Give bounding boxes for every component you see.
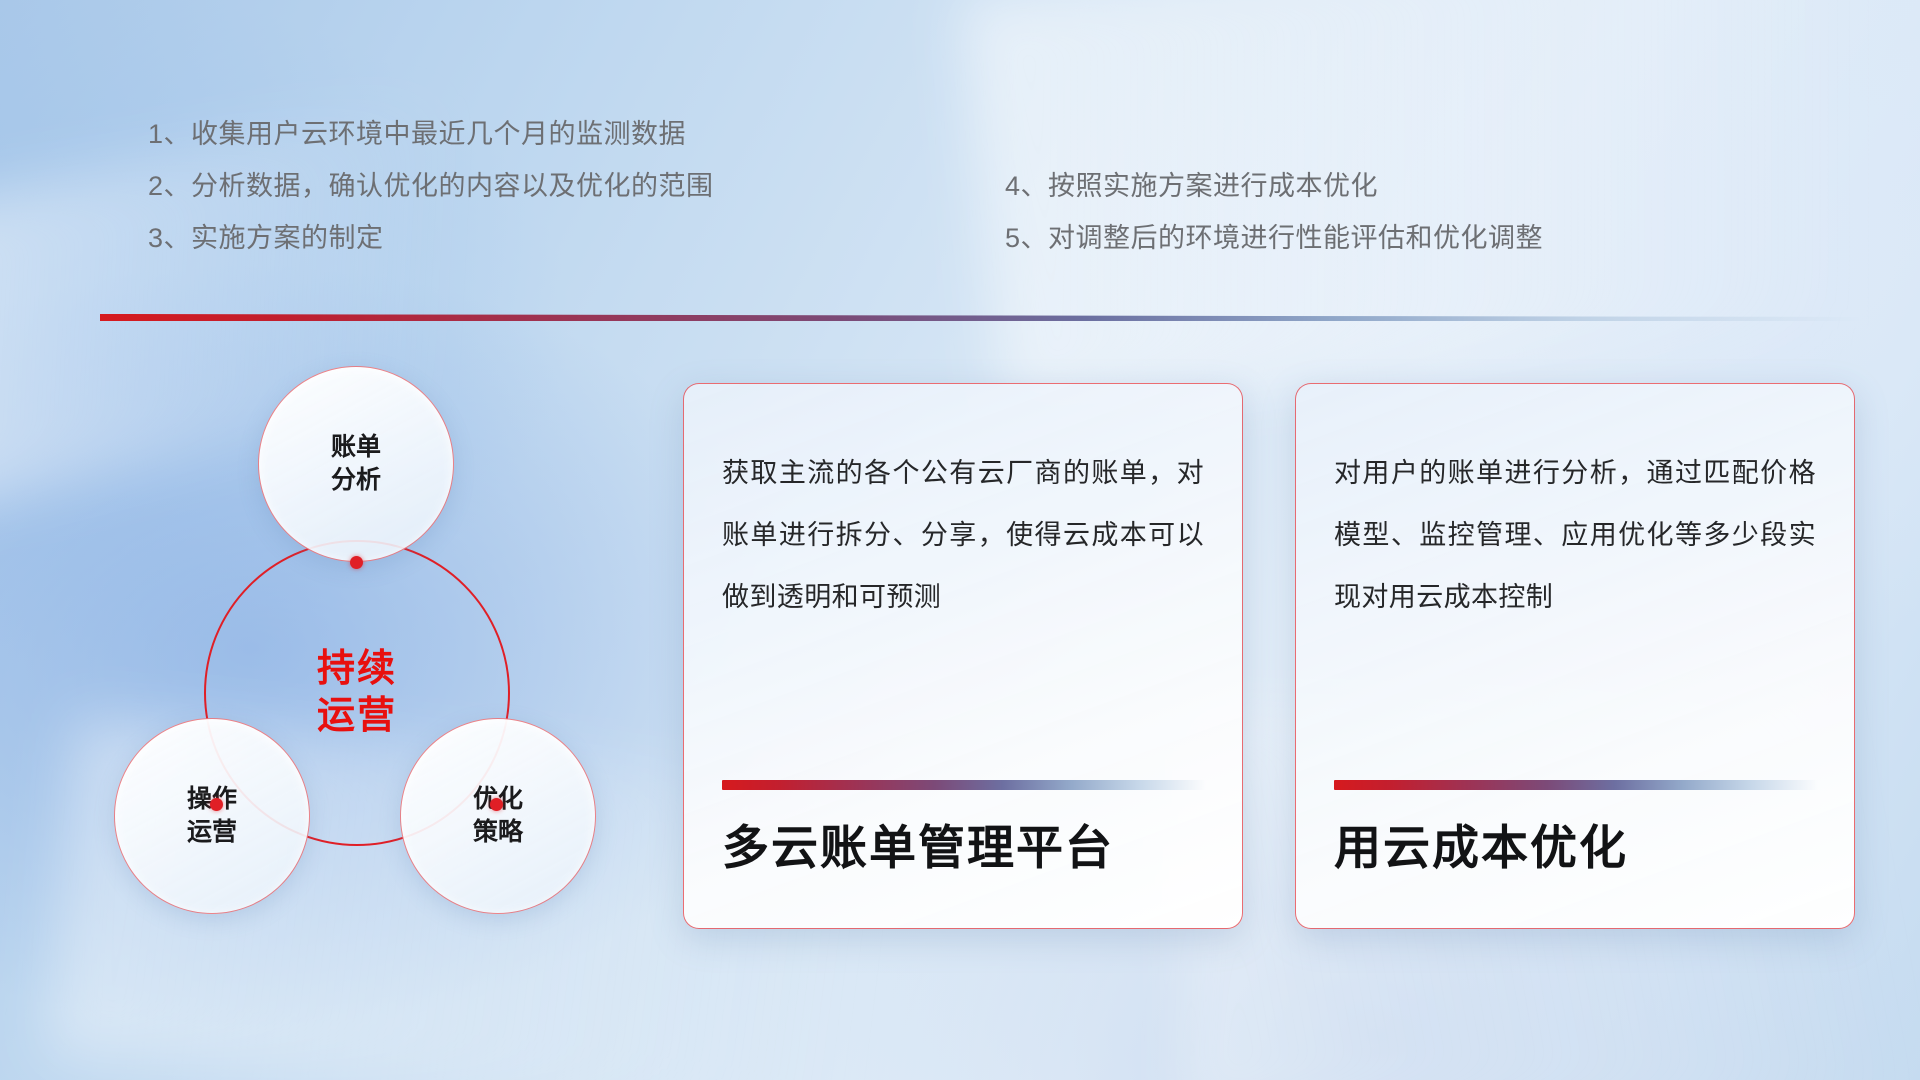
card-accent-bar bbox=[1334, 780, 1818, 790]
bubble-label-line-2: 运营 bbox=[187, 816, 237, 849]
bubble-label-line-2: 策略 bbox=[473, 816, 523, 849]
step-item-5: 5、对调整后的环境进行性能评估和优化调整 bbox=[1005, 212, 1543, 264]
bubble-operations[interactable]: 操作 运营 bbox=[114, 718, 310, 914]
step-item-2: 2、分析数据，确认优化的内容以及优化的范围 bbox=[148, 160, 714, 212]
section-divider bbox=[100, 314, 1860, 321]
card-body-text: 获取主流的各个公有云厂商的账单，对账单进行拆分、分享，使得云成本可以做到透明和可… bbox=[722, 442, 1204, 628]
bubble-optimization-strategy[interactable]: 优化 策略 bbox=[400, 718, 596, 914]
card-cloud-cost-optimization[interactable]: 对用户的账单进行分析，通过匹配价格模型、监控管理、应用优化等多少段实现对用云成本… bbox=[1295, 383, 1855, 929]
node-dot-top bbox=[350, 556, 363, 569]
step-item-1: 1、收集用户云环境中最近几个月的监测数据 bbox=[148, 108, 714, 160]
card-title: 用云成本优化 bbox=[1334, 818, 1628, 878]
card-title: 多云账单管理平台 bbox=[722, 818, 1114, 878]
slide-canvas: 1、收集用户云环境中最近几个月的监测数据 2、分析数据，确认优化的内容以及优化的… bbox=[0, 0, 1920, 1080]
continuous-operation-diagram: 持续 运营 账单 分析 操作 运营 优化 策略 bbox=[100, 352, 640, 952]
center-label-line-2: 运营 bbox=[317, 693, 397, 740]
card-accent-bar bbox=[722, 780, 1206, 790]
node-dot-left bbox=[210, 798, 223, 811]
bubble-label-line-1: 账单 bbox=[331, 431, 381, 464]
card-multi-cloud-billing-platform[interactable]: 获取主流的各个公有云厂商的账单，对账单进行拆分、分享，使得云成本可以做到透明和可… bbox=[683, 383, 1243, 929]
card-body-text: 对用户的账单进行分析，通过匹配价格模型、监控管理、应用优化等多少段实现对用云成本… bbox=[1334, 442, 1816, 628]
steps-list-right: 4、按照实施方案进行成本优化 5、对调整后的环境进行性能评估和优化调整 bbox=[1005, 160, 1543, 264]
bubble-label-line-2: 分析 bbox=[331, 464, 381, 497]
steps-list-left: 1、收集用户云环境中最近几个月的监测数据 2、分析数据，确认优化的内容以及优化的… bbox=[148, 108, 714, 264]
step-item-3: 3、实施方案的制定 bbox=[148, 212, 714, 264]
node-dot-right bbox=[490, 798, 503, 811]
bubble-bill-analysis[interactable]: 账单 分析 bbox=[258, 366, 454, 562]
center-label-line-1: 持续 bbox=[317, 646, 397, 693]
step-item-4: 4、按照实施方案进行成本优化 bbox=[1005, 160, 1543, 212]
